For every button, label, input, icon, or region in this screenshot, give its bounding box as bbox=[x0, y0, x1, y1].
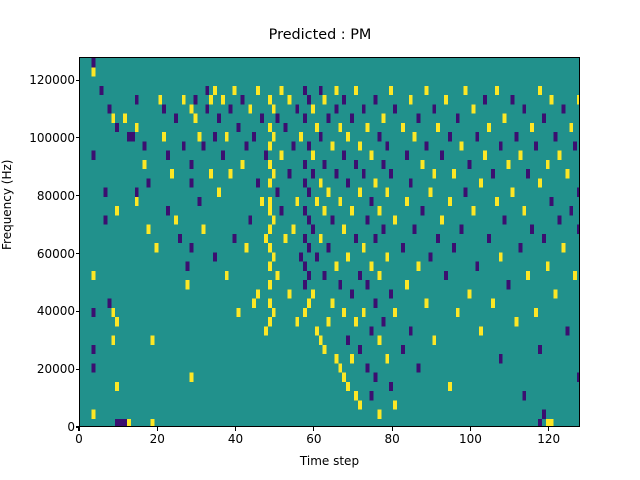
y-tick-label: 80000 bbox=[37, 190, 75, 202]
y-axis-label: Frequency (Hz) bbox=[0, 234, 14, 250]
y-tick-mark bbox=[76, 137, 80, 138]
x-tick-label: 120 bbox=[537, 433, 560, 445]
heatmap-image bbox=[80, 58, 580, 427]
x-tick-label: 60 bbox=[306, 433, 321, 445]
y-tick-mark bbox=[76, 311, 80, 312]
chart-title: Predicted : PM bbox=[0, 27, 640, 44]
x-axis-label: Time step bbox=[79, 454, 580, 468]
x-tick-label: 40 bbox=[228, 433, 243, 445]
y-tick-label: 100000 bbox=[29, 132, 75, 144]
y-tick-label: 120000 bbox=[29, 74, 75, 86]
y-tick-mark bbox=[76, 253, 80, 254]
x-tick-mark bbox=[470, 427, 471, 431]
y-tick-label: 20000 bbox=[37, 363, 75, 375]
y-tick-label: 0 bbox=[67, 421, 75, 433]
x-tick-mark bbox=[392, 427, 393, 431]
x-tick-label: 20 bbox=[150, 433, 165, 445]
y-tick-mark bbox=[76, 426, 80, 427]
x-tick-mark bbox=[548, 427, 549, 431]
y-tick-label: 40000 bbox=[37, 305, 75, 317]
x-tick-label: 100 bbox=[459, 433, 482, 445]
x-tick-mark bbox=[235, 427, 236, 431]
x-tick-mark bbox=[313, 427, 314, 431]
y-tick-label: 60000 bbox=[37, 248, 75, 260]
heatmap-axes[interactable] bbox=[79, 57, 580, 427]
x-tick-label: 0 bbox=[75, 433, 83, 445]
y-tick-mark bbox=[76, 195, 80, 196]
y-tick-mark bbox=[76, 369, 80, 370]
x-tick-label: 80 bbox=[384, 433, 399, 445]
matplotlib-figure: Predicted : PM 0204060801001200200004000… bbox=[0, 0, 640, 480]
y-tick-mark bbox=[76, 80, 80, 81]
x-tick-mark bbox=[157, 427, 158, 431]
